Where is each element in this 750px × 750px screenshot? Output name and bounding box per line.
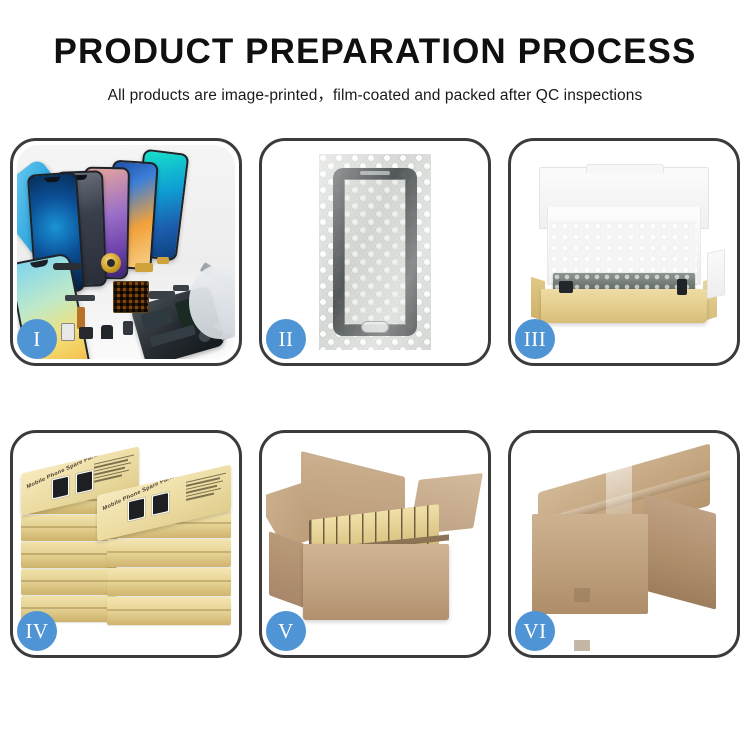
open-shipping-carton [275,458,475,638]
gold-contact-part [157,257,169,264]
home-button [361,321,389,333]
step-panel-4[interactable]: Mobile Phone Spare Parts [10,430,242,658]
carton-side-left [269,531,307,609]
step-badge-2: II [266,319,306,359]
box-spec-lines [186,473,226,503]
header: PRODUCT PREPARATION PROCESS All products… [0,0,750,105]
box-spec-lines [94,455,134,485]
carton-handle-tab-top [574,588,590,602]
flex-cable-part-1 [65,295,95,301]
step-panel-1[interactable]: I [10,138,242,366]
product-preparation-infographic: PRODUCT PREPARATION PROCESS All products… [0,0,750,750]
box-layer [107,597,231,625]
open-mailer-box [525,163,723,341]
step-badge-1: I [17,319,57,359]
carton-side-face [644,495,716,610]
vibrator-part [123,321,133,335]
box-phone-graphic-1 [51,474,70,500]
screen-connector-left [559,281,573,293]
copper-coil-part [101,253,121,273]
page-title: PRODUCT PREPARATION PROCESS [0,34,750,69]
speaker-part [79,327,93,339]
phone-back-battery [149,325,196,347]
sim-tray-part [61,323,75,341]
box-flap-right [707,249,725,299]
box-phone-graphic-2 [151,491,170,517]
step-panel-6[interactable]: VI [508,430,740,658]
carton-body [303,544,449,620]
sealed-shipping-carton [526,468,722,628]
box-layer [21,542,117,568]
step-badge-3: III [515,319,555,359]
carton-front-face [532,514,648,614]
step-panel-3[interactable]: III [508,138,740,366]
box-layer [107,568,231,596]
earpiece-slot [360,171,390,175]
box-phone-graphic-2 [75,469,94,495]
box-layer [21,569,117,595]
page-subtitle: All products are image-printed，film-coat… [0,83,750,105]
step-badge-4: IV [17,611,57,651]
box-layer [107,539,231,567]
chip-grid-part [113,281,149,313]
process-step-grid: I II [10,138,740,658]
carton-handle-tab-bottom [574,640,590,651]
step-panel-5[interactable]: V [259,430,491,658]
step-badge-5: V [266,611,306,651]
flex-cable-part-3 [149,291,175,299]
bubble-wrapped-screen [319,154,431,350]
step-panel-2[interactable]: II [259,138,491,366]
phone-screen-assembly [333,168,417,336]
connector-part [53,263,81,270]
step-badge-6: VI [515,611,555,651]
box-phone-graphic-1 [127,496,146,522]
stacked-retail-boxes: Mobile Phone Spare Parts [21,446,231,642]
flex-cable-part-4 [173,285,189,291]
screen-connector-right [677,279,687,295]
flex-cable-part-2 [77,307,85,329]
gold-flex-part [135,263,153,272]
buzzer-part [101,325,113,339]
